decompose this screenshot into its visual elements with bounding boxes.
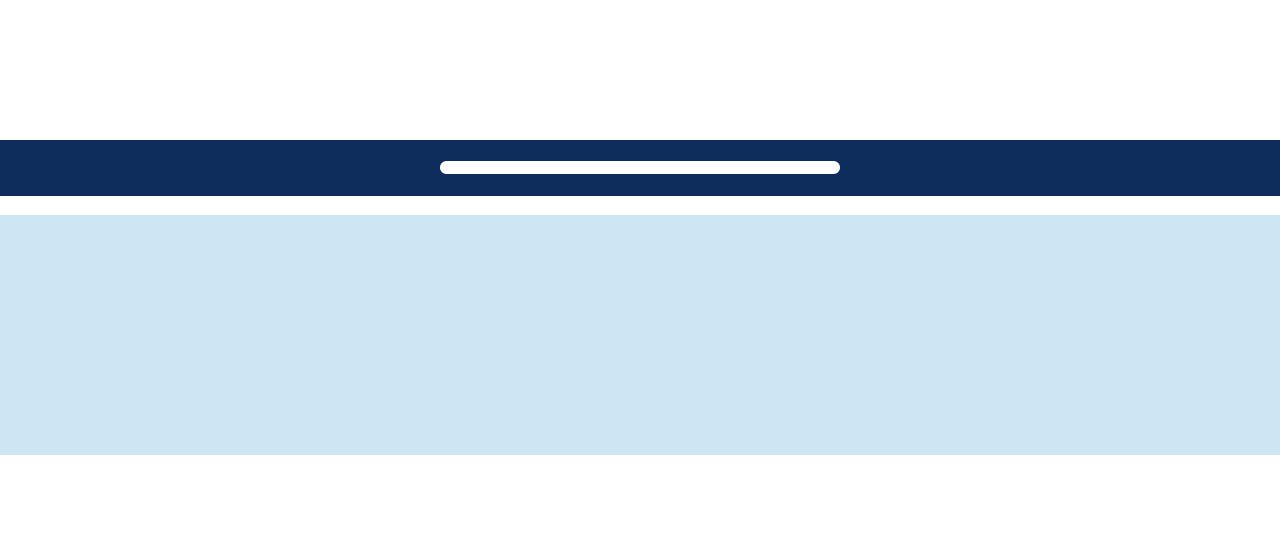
event-dot-matrix <box>0 462 1280 551</box>
banner-placeholder-pill[interactable] <box>440 161 840 174</box>
page-root <box>0 0 1280 551</box>
epidemic-bar-chart <box>0 380 1280 456</box>
